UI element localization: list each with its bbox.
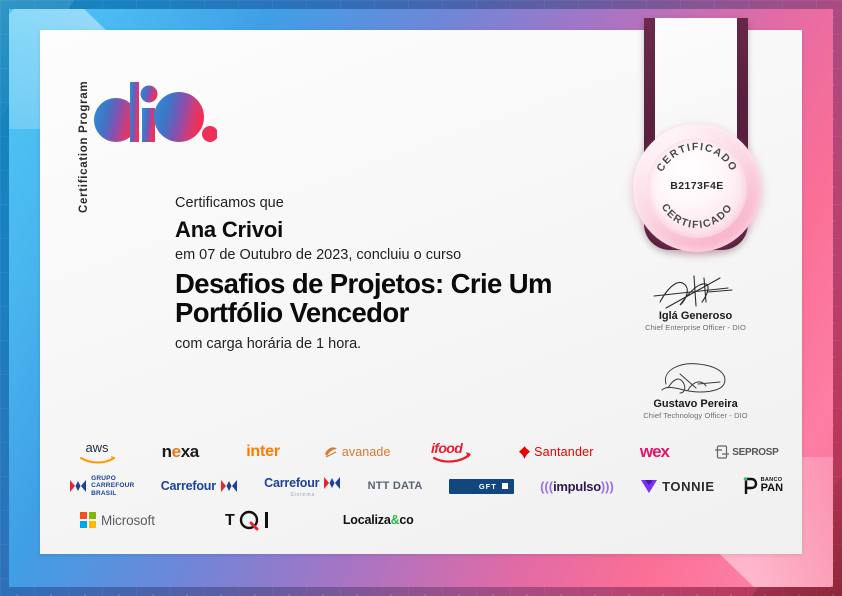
partner-logo-wall: aws nexa inter avanade ifood [56,435,798,536]
grupo-line-1: GRUPO [91,475,116,482]
signature-mark-icon [636,360,756,400]
seal-arc-bottom-text: CERTIFICADO [659,202,735,232]
partner-logo-inter: inter [241,437,285,467]
svg-text:T: T [225,512,235,529]
date-line: em 07 de Outubro de 2023, concluiu o cur… [175,247,595,263]
partner-logo-avanade: avanade [324,437,391,467]
partner-logo-banco-pan: BANCO PAN [741,471,785,501]
certificate-seal-badge: CERTIFICADO CERTIFICADO B2173F4E [638,18,756,258]
partner-logo-carrefour: Carrefour [161,471,238,501]
partner-logo-nexa: nexa [158,437,202,467]
seal-code: B2173F4E [633,180,761,192]
svg-text:ifood: ifood [431,440,463,456]
partner-logo-ntt-data: NTT DATA [368,471,423,501]
signature-role: Chief Technology Officer - DIO [608,411,783,420]
dio-logo [92,72,217,152]
signature-role: Chief Enterprise Officer - DIO [608,323,783,332]
signature-block-1: Iglá Generoso Chief Enterprise Officer -… [608,272,783,332]
partner-logo-tonnie: TONNIE [640,471,714,501]
partner-logo-impulso: ((( impulso ))) [540,471,614,501]
partner-logo-row-3: Microsoft T Localiza&co [56,503,798,537]
seal-arc-top-text: CERTIFICADO [654,141,739,174]
partner-logo-ifood: ifood [429,437,479,467]
partner-logo-wex: wex [632,437,676,467]
svg-text:aws: aws [86,440,110,455]
intro-line: Certificamos que [175,193,595,214]
course-title: Desafios de Projetos: Crie Um Portfólio … [175,270,575,327]
partner-logo-tqi: T [225,505,273,535]
workload-line: com carga horária de 1 hora. [175,336,595,352]
partner-logo-row-2: GRUPO CARREFOUR BRASIL Carrefour Carrefo… [56,469,798,503]
partner-logo-row-1: aws nexa inter avanade ifood [56,435,798,469]
partner-logo-localiza-co: Localiza&co [343,505,414,535]
certificate-page: Certification Program Certificamos que A… [0,0,842,596]
pan-label: PAN [761,482,783,494]
partner-logo-grupo-carrefour-brasil: GRUPO CARREFOUR BRASIL [69,471,134,501]
partner-logo-santander: Santander [518,437,593,467]
gft-label: GFT [479,482,497,491]
certificate-text-block: Certificamos que Ana Crivoi em 07 de Out… [175,193,595,352]
signature-name: Gustavo Pereira [608,398,783,410]
partner-logo-microsoft: Microsoft [80,505,155,535]
partner-logo-carrefour-sistema: Carrefour Sistema [264,471,341,501]
partner-logo-seprosp: SEPROSP [715,437,778,467]
signature-block-2: Gustavo Pereira Chief Technology Officer… [608,360,783,420]
seal-circle: CERTIFICADO CERTIFICADO B2173F4E [633,124,761,252]
signature-mark-icon [636,272,756,312]
partner-logo-gft: GFT [449,471,514,501]
signature-name: Iglá Generoso [608,310,783,322]
recipient-name: Ana Crivoi [175,217,595,243]
certification-program-label: Certification Program [78,81,90,213]
carrefour-sub-label: Sistema [290,492,315,498]
grupo-line-2: CARREFOUR [91,482,134,489]
grupo-line-3: BRASIL [91,490,116,497]
partner-logo-aws: aws [75,437,119,467]
